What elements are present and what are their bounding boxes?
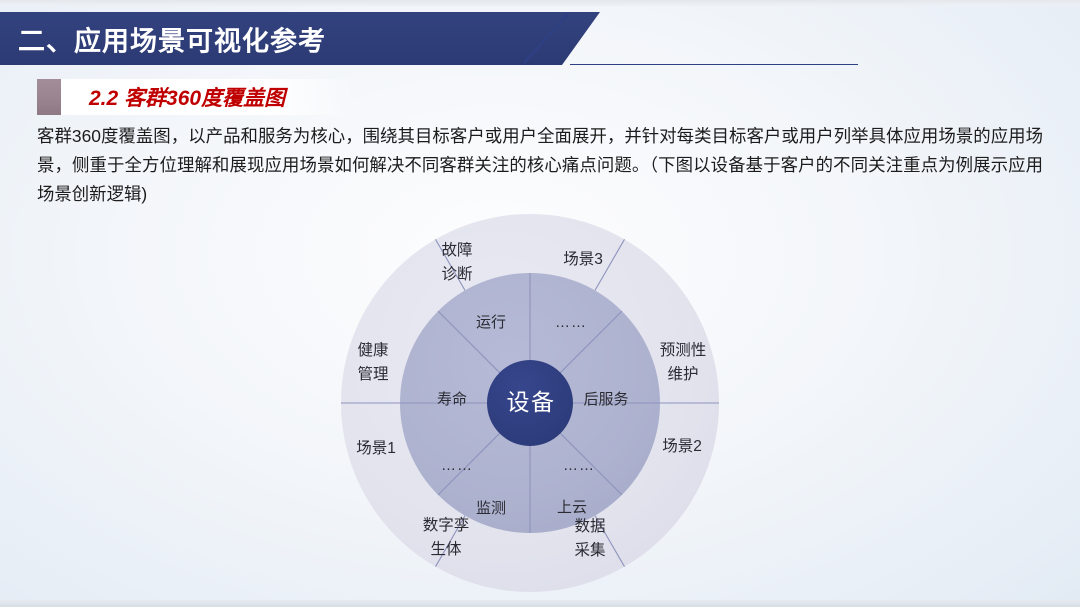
outer-label-6-line2: 管理 <box>357 365 388 383</box>
outer-label-7-line1: 故障 <box>441 241 472 259</box>
outer-label-4-line2: 生体 <box>430 540 462 558</box>
mid-label-1: 后服务 <box>583 391 628 408</box>
mid-label-3: 上云 <box>557 499 587 516</box>
outer-label-6-line1: 健康 <box>357 341 388 359</box>
outer-label-4-line1: 数字孪 <box>423 516 470 534</box>
subtitle-label: 2.2 客群360度覆盖图 <box>89 82 285 112</box>
outer-label-5: 场景1 <box>356 439 396 457</box>
mid-label-6: 寿命 <box>437 390 467 408</box>
outer-label-7-line2: 诊断 <box>441 265 472 283</box>
banner-slash-icon <box>520 12 576 65</box>
core-label: 设备 <box>507 389 556 415</box>
outer-label-0: 场景3 <box>563 250 603 268</box>
outer-label-3-line2: 采集 <box>574 541 605 559</box>
outer-label-2: 场景2 <box>662 437 702 455</box>
body-paragraph: 客群360度覆盖图，以产品和服务为核心，围绕其目标客户或用户全面展开，并针对每类… <box>37 122 1043 209</box>
outer-label-1-line2: 维护 <box>667 365 698 383</box>
slide-canvas: 二、应用场景可视化参考 2.2 客群360度覆盖图 客群360度覆盖图，以产品和… <box>0 0 1080 607</box>
mid-label-5: …… <box>441 457 473 474</box>
outer-label-1-line1: 预测性 <box>660 341 707 359</box>
mid-label-7: 运行 <box>476 314 506 331</box>
customer-360-coverage-diagram: 场景3 预测性 维护 场景2 数据 采集 数字孪 生体 场景1 健康 管理 故障 <box>340 213 720 593</box>
page-title: 二、应用场景可视化参考 <box>18 19 326 58</box>
mid-label-2: …… <box>563 457 595 474</box>
header-underline <box>570 64 858 65</box>
subtitle-chip <box>37 79 61 115</box>
mid-label-0: …… <box>555 314 587 331</box>
section-subtitle: 2.2 客群360度覆盖图 <box>37 79 355 115</box>
outer-label-3-line1: 数据 <box>574 517 605 535</box>
mid-label-4: 监测 <box>476 500 506 517</box>
